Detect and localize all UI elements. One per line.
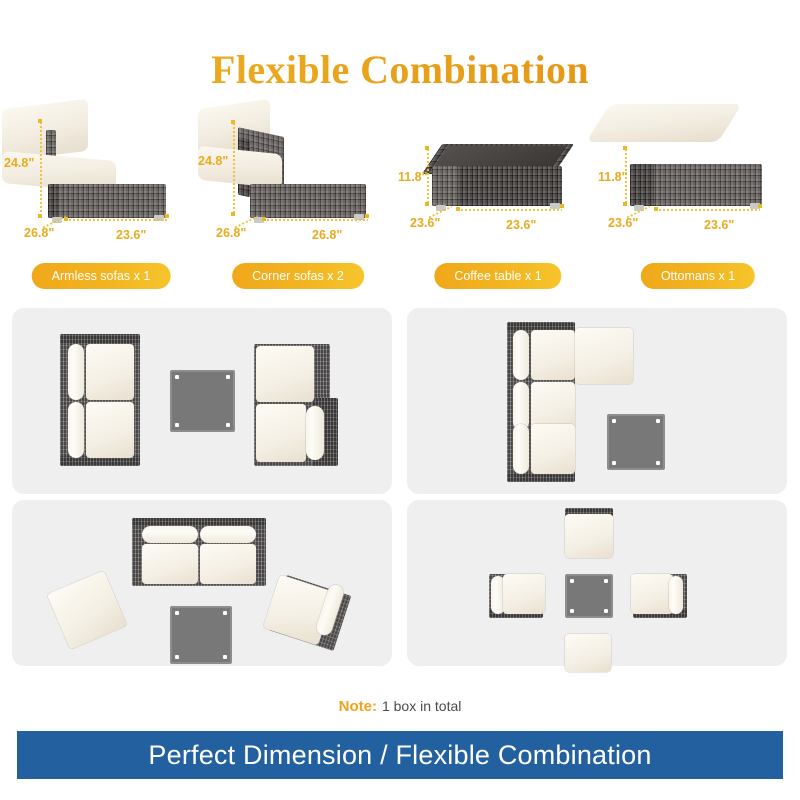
combination-4-layout [407, 500, 787, 666]
product-card-ottoman: 11.8" 23.6" 23.6" Ottomans x 1 [598, 104, 798, 289]
ottoman-label[interactable]: Ottomans x 1 [641, 263, 755, 289]
corner-sofa-width: 26.8" [312, 228, 342, 242]
combination-panel-l-shaped[interactable] [407, 308, 787, 494]
coffee-table-height: 11.8" [398, 170, 428, 184]
combination-panel-separated[interactable] [407, 500, 787, 666]
ottoman-illustration: 11.8" 23.6" 23.6" [598, 104, 798, 246]
armless-sofa-width: 23.6" [116, 228, 146, 242]
combination-3-layout [12, 500, 392, 666]
ottoman-height: 11.8" [598, 170, 628, 184]
combination-panel-loveseat[interactable] [12, 500, 392, 666]
note-label: Note: [339, 698, 377, 715]
corner-sofa-label[interactable]: Corner sofas x 2 [232, 263, 364, 289]
product-dimensions-row: 24.8" 26.8" 23.6" Armless sofas x 1 [0, 104, 800, 289]
corner-sofa-height: 24.8" [198, 154, 228, 168]
product-card-armless-sofa: 24.8" 26.8" 23.6" Armless sofas x 1 [2, 104, 200, 289]
ottoman-depth: 23.6" [608, 216, 638, 230]
banner-text: Perfect Dimension / Flexible Combination [148, 740, 651, 771]
note-line: Note:1 box in total [0, 698, 800, 715]
combination-1-layout [12, 308, 392, 494]
armless-sofa-height: 24.8" [4, 156, 34, 170]
ottoman-width: 23.6" [704, 218, 734, 232]
corner-sofa-illustration: 24.8" 26.8" 26.8" [198, 104, 398, 246]
infographic-page: Flexible Combination [0, 0, 800, 800]
armless-sofa-label[interactable]: Armless sofas x 1 [32, 263, 171, 289]
product-card-corner-sofa: 24.8" 26.8" 26.8" Corner sofas x 2 [198, 104, 398, 289]
product-card-coffee-table: 11.8" 23.6" 23.6" Coffee table x 1 [398, 104, 598, 289]
coffee-table-illustration: 11.8" 23.6" 23.6" [398, 104, 598, 246]
armless-sofa-depth: 26.8" [24, 226, 54, 240]
corner-sofa-depth: 26.8" [216, 226, 246, 240]
coffee-table-width: 23.6" [506, 218, 536, 232]
note-text: 1 box in total [382, 698, 461, 714]
coffee-table-label[interactable]: Coffee table x 1 [434, 263, 561, 289]
combination-2-layout [407, 308, 787, 494]
armless-sofa-illustration: 24.8" 26.8" 23.6" [2, 104, 200, 246]
page-title: Flexible Combination [0, 46, 800, 93]
coffee-table-depth: 23.6" [410, 216, 440, 230]
combination-panels [0, 302, 800, 674]
bottom-banner: Perfect Dimension / Flexible Combination [17, 731, 783, 779]
combination-panel-face-to-face[interactable] [12, 308, 392, 494]
